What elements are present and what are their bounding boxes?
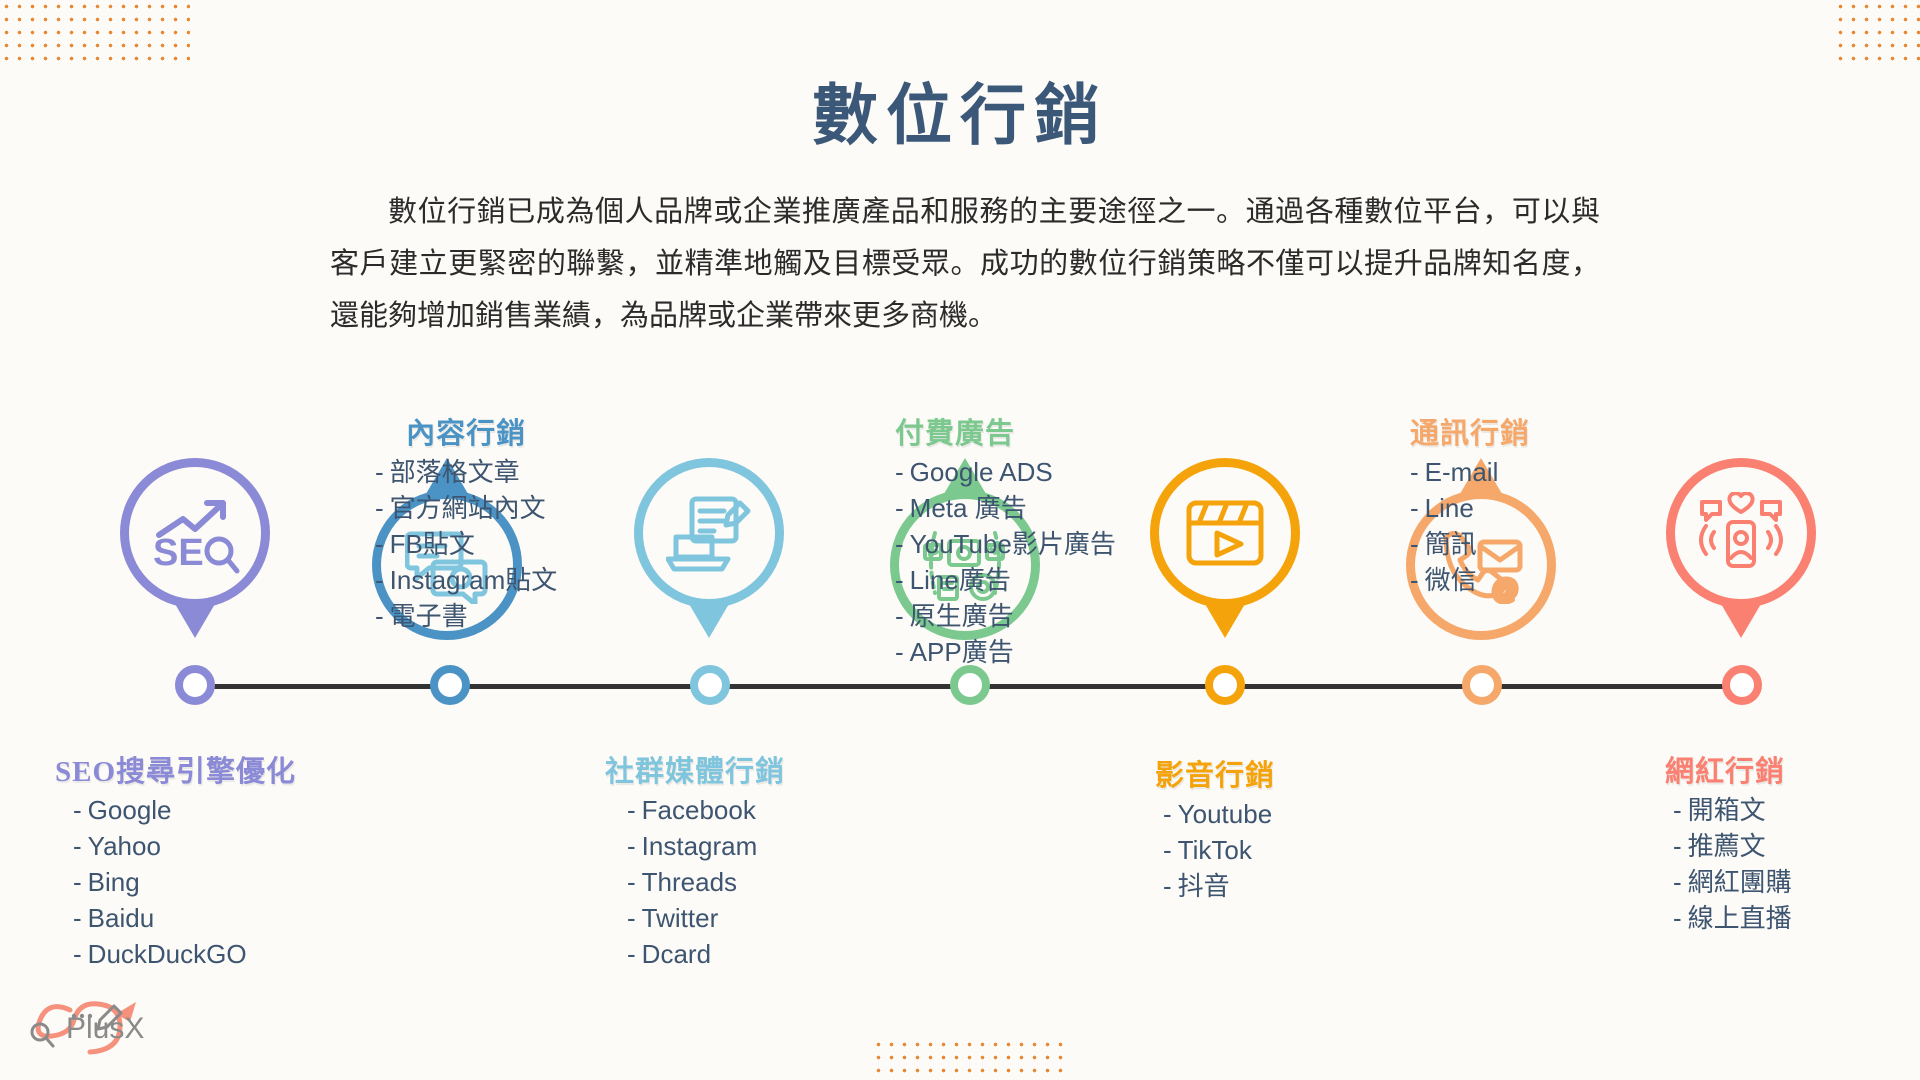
- list-item: -開箱文: [1673, 792, 1792, 828]
- list-item: -Threads: [627, 864, 785, 900]
- list-item: -Instagram: [627, 828, 785, 864]
- list-bullet-dash: -: [1673, 867, 1682, 897]
- category-block-influencer: 網紅行銷 -開箱文-推薦文-網紅團購-線上直播: [1665, 748, 1792, 936]
- category-heading-messaging: 通訊行銷: [1410, 410, 1530, 452]
- list-bullet-dash: -: [627, 939, 636, 969]
- list-item: -電子書: [375, 598, 557, 634]
- category-heading-paid-ads: 付費廣告: [895, 410, 1116, 452]
- list-bullet-dash: -: [1410, 457, 1419, 487]
- list-bullet-dash: -: [895, 637, 904, 667]
- timeline-node-content[interactable]: [430, 665, 470, 705]
- timeline-node-video[interactable]: [1205, 665, 1245, 705]
- list-bullet-dash: -: [1410, 565, 1419, 595]
- list-bullet-dash: -: [895, 601, 904, 631]
- list-item: -線上直播: [1673, 900, 1792, 936]
- seo-magnifier-icon: SE: [149, 491, 241, 575]
- list-bullet-dash: -: [895, 529, 904, 559]
- list-bullet-dash: -: [375, 529, 384, 559]
- dot-pattern-top-right: [1834, 0, 1920, 62]
- list-item: -Google ADS: [895, 454, 1116, 490]
- pin-bubble-social: [634, 458, 784, 608]
- category-block-content: 內容行銷 -部落格文章-官方網站內文-FB貼文-Instagram貼文-電子書: [375, 410, 557, 634]
- intro-paragraph: 數位行銷已成為個人品牌或企業推廣產品和服務的主要途徑之一。通過各種數位平台，可以…: [330, 186, 1600, 342]
- category-heading-seo: SEO搜尋引擎優化: [55, 748, 296, 790]
- list-item: -FB貼文: [375, 526, 557, 562]
- category-block-paid-ads: 付費廣告 -Google ADS-Meta 廣告-YouTube影片廣告-Lin…: [895, 410, 1116, 670]
- list-item: -Twitter: [627, 900, 785, 936]
- list-bullet-dash: -: [73, 831, 82, 861]
- list-item: -推薦文: [1673, 828, 1792, 864]
- timeline-node-social[interactable]: [690, 665, 730, 705]
- list-bullet-dash: -: [73, 867, 82, 897]
- list-bullet-dash: -: [1673, 795, 1682, 825]
- list-bullet-dash: -: [73, 939, 82, 969]
- category-list-content: -部落格文章-官方網站內文-FB貼文-Instagram貼文-電子書: [375, 454, 557, 634]
- category-list-video: -Youtube-TikTok-抖音: [1155, 796, 1275, 904]
- list-item: -簡訊: [1410, 526, 1530, 562]
- list-item: -YouTube影片廣告: [895, 526, 1116, 562]
- list-bullet-dash: -: [1673, 903, 1682, 933]
- list-bullet-dash: -: [895, 565, 904, 595]
- list-item: -TikTok: [1163, 832, 1275, 868]
- list-item: -Dcard: [627, 936, 785, 972]
- pin-seo[interactable]: SE: [120, 458, 270, 640]
- list-bullet-dash: -: [73, 903, 82, 933]
- list-bullet-dash: -: [375, 601, 384, 631]
- list-item: -Line廣告: [895, 562, 1116, 598]
- influencer-phone-hearts-icon: [1698, 492, 1784, 574]
- list-item: -APP廣告: [895, 634, 1116, 670]
- list-item: -Yahoo: [73, 828, 296, 864]
- plusx-logo-text: PlusX: [66, 1012, 144, 1046]
- timeline-node-seo[interactable]: [175, 665, 215, 705]
- list-item: -原生廣告: [895, 598, 1116, 634]
- list-item: -Meta 廣告: [895, 490, 1116, 526]
- category-list-paid-ads: -Google ADS-Meta 廣告-YouTube影片廣告-Line廣告-原…: [895, 454, 1116, 670]
- category-block-video: 影音行銷 -Youtube-TikTok-抖音: [1155, 752, 1275, 904]
- category-list-influencer: -開箱文-推薦文-網紅團購-線上直播: [1665, 792, 1792, 936]
- timeline-node-messaging[interactable]: [1462, 665, 1502, 705]
- list-bullet-dash: -: [627, 903, 636, 933]
- list-bullet-dash: -: [895, 457, 904, 487]
- list-bullet-dash: -: [1410, 529, 1419, 559]
- list-bullet-dash: -: [73, 795, 82, 825]
- category-heading-video: 影音行銷: [1155, 752, 1275, 794]
- list-item: -Line: [1410, 490, 1530, 526]
- list-item: -DuckDuckGO: [73, 936, 296, 972]
- list-bullet-dash: -: [627, 867, 636, 897]
- page-title: 數位行銷: [0, 62, 1920, 158]
- list-bullet-dash: -: [627, 795, 636, 825]
- list-bullet-dash: -: [375, 565, 384, 595]
- pin-bubble-influencer: [1666, 458, 1816, 608]
- timeline-node-paid-ads[interactable]: [950, 665, 990, 705]
- pin-video[interactable]: [1150, 458, 1300, 640]
- pin-bubble-seo: SE: [120, 458, 270, 608]
- list-item: -Facebook: [627, 792, 785, 828]
- list-bullet-dash: -: [895, 493, 904, 523]
- list-bullet-dash: -: [375, 493, 384, 523]
- list-item: -Bing: [73, 864, 296, 900]
- category-heading-content: 內容行銷: [375, 410, 557, 452]
- list-item: -Baidu: [73, 900, 296, 936]
- category-heading-social: 社群媒體行銷: [605, 748, 785, 790]
- list-item: -E-mail: [1410, 454, 1530, 490]
- category-list-messaging: -E-mail-Line-簡訊-微信: [1410, 454, 1530, 598]
- video-clapperboard-icon: [1183, 495, 1267, 571]
- plusx-logo[interactable]: PlusX: [18, 992, 188, 1066]
- timeline-node-influencer[interactable]: [1722, 665, 1762, 705]
- list-item: -Google: [73, 792, 296, 828]
- dot-pattern-bottom-center: [872, 1038, 1064, 1074]
- svg-text:SE: SE: [153, 532, 204, 574]
- list-item: -抖音: [1163, 868, 1275, 904]
- category-list-social: -Facebook-Instagram-Threads-Twitter-Dcar…: [605, 792, 785, 972]
- category-block-messaging: 通訊行銷 -E-mail-Line-簡訊-微信: [1410, 410, 1530, 598]
- pin-bubble-video: [1150, 458, 1300, 608]
- social-laptop-pen-icon: [666, 493, 752, 573]
- list-bullet-dash: -: [1163, 799, 1172, 829]
- list-bullet-dash: -: [1410, 493, 1419, 523]
- list-bullet-dash: -: [1673, 831, 1682, 861]
- pin-social[interactable]: [634, 458, 784, 640]
- list-item: -微信: [1410, 562, 1530, 598]
- list-bullet-dash: -: [375, 457, 384, 487]
- list-bullet-dash: -: [1163, 871, 1172, 901]
- category-list-seo: -Google-Yahoo-Bing-Baidu-DuckDuckGO: [55, 792, 296, 972]
- pin-influencer[interactable]: [1666, 458, 1816, 640]
- category-block-social: 社群媒體行銷 -Facebook-Instagram-Threads-Twitt…: [605, 748, 785, 972]
- infographic-canvas: 數位行銷 數位行銷已成為個人品牌或企業推廣產品和服務的主要途徑之一。通過各種數位…: [0, 0, 1920, 1080]
- list-bullet-dash: -: [627, 831, 636, 861]
- list-item: -官方網站內文: [375, 490, 557, 526]
- dot-pattern-top-left: [0, 0, 190, 62]
- list-bullet-dash: -: [1163, 835, 1172, 865]
- list-item: -網紅團購: [1673, 864, 1792, 900]
- category-heading-influencer: 網紅行銷: [1665, 748, 1792, 790]
- category-block-seo: SEO搜尋引擎優化 -Google-Yahoo-Bing-Baidu-DuckD…: [55, 748, 296, 972]
- list-item: -部落格文章: [375, 454, 557, 490]
- list-item: -Youtube: [1163, 796, 1275, 832]
- list-item: -Instagram貼文: [375, 562, 557, 598]
